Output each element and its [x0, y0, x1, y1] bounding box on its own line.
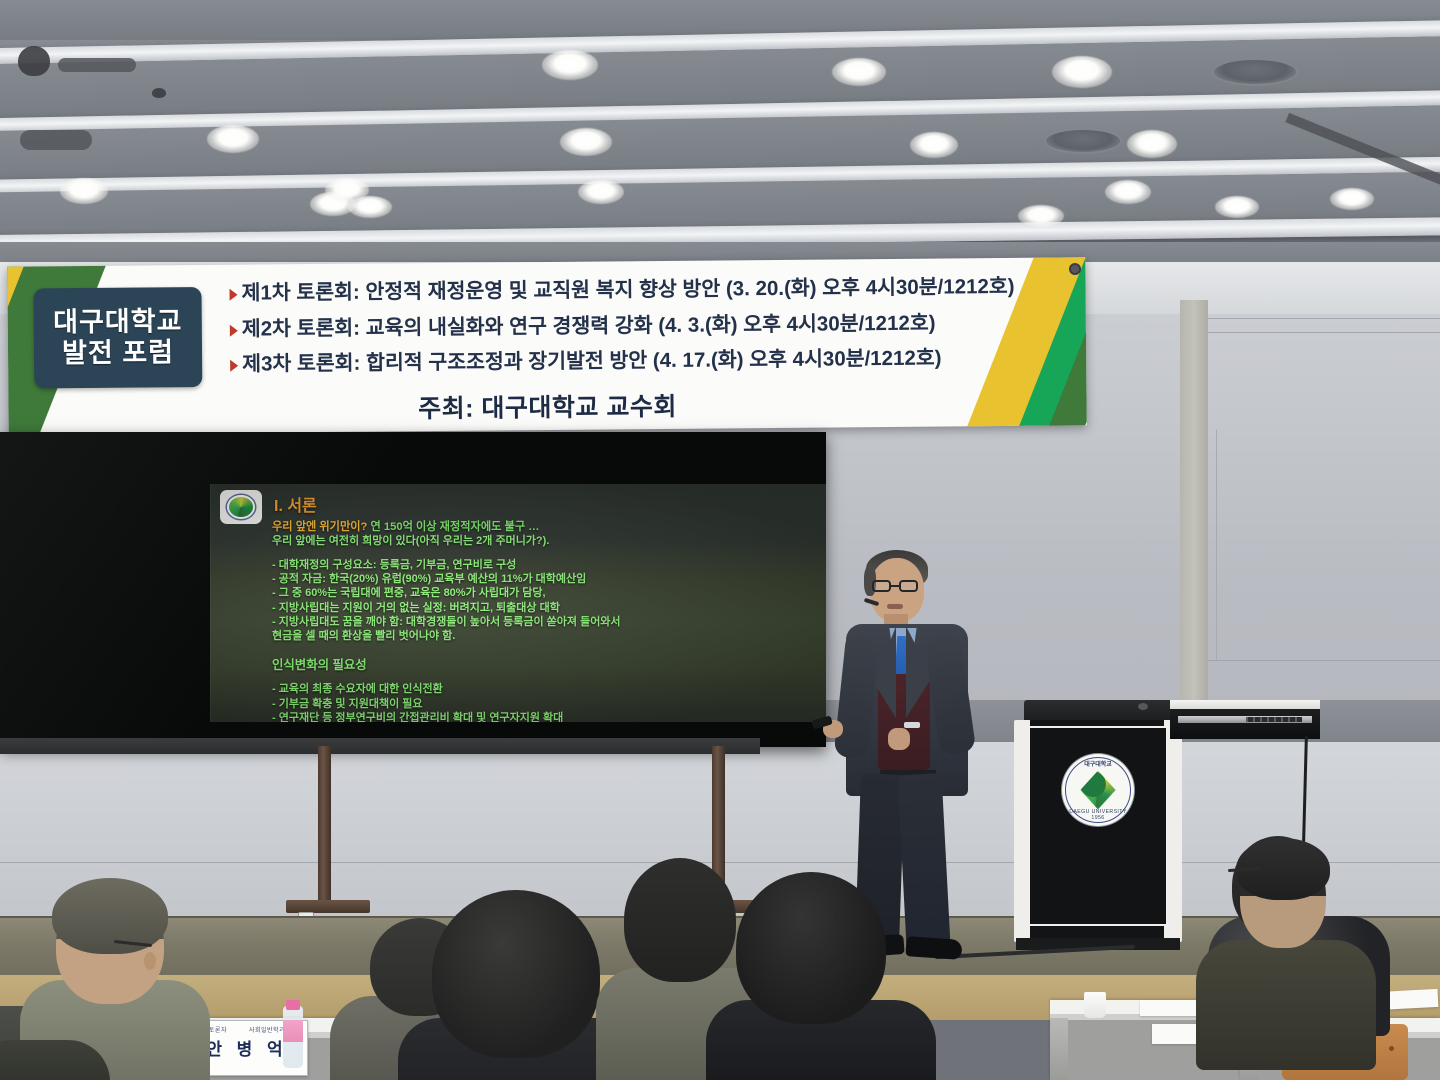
downlight	[1127, 130, 1177, 158]
banner-peg	[1069, 263, 1081, 275]
banner-session-item: 제1차 토론회: 안정적 재정운영 및 교직원 복지 향상 방안 (3. 20.…	[229, 276, 1025, 304]
screen-support-rail	[0, 738, 760, 754]
slide-bullet: - 지방사립대는 지원이 거의 없는 실정: 버려지고, 퇴출대상 대학	[272, 601, 820, 615]
audience-head	[736, 872, 886, 1024]
slide-section-bullet: - 연구재단 등 정부연구비의 간접관리비 확대 및 연구자지원 확대	[272, 711, 820, 722]
slide-headline-line2: 우리 앞에는 여전히 희망이 있다(아직 우리는 2개 주머니가?).	[272, 534, 820, 548]
slide-bullet: - 지방사립대도 꿈을 깨야 함: 대학경쟁들이 높아서 등록금이 쏟아져 들어…	[272, 615, 820, 629]
banner-host-text: 주최: 대구대학교 교수회	[8, 383, 1086, 428]
slide-headline-rest: 연 150억 이상 재정적자에도 불구 …	[367, 521, 539, 533]
screen-support-post	[318, 746, 331, 912]
banner-title-badge: 대구대학교 발전 포럼	[33, 287, 202, 388]
console-body	[1170, 709, 1320, 739]
ceiling	[0, 0, 1440, 268]
downlight	[207, 125, 259, 153]
slide-body: 우리 앞엔 위기만이? 연 150억 이상 재정적자에도 불구 … 우리 앞에는…	[272, 520, 820, 722]
downlight	[560, 128, 612, 156]
wall-seam	[1195, 332, 1440, 333]
podium-body: 대구대학교 DAEGU UNIVERSITY 1956	[1014, 720, 1182, 942]
slide-bullet: - 그 중 60%는 국립대에 편중, 교육은 80%가 사립대가 담당,	[272, 586, 820, 600]
downlight	[1330, 188, 1374, 210]
downlight	[542, 50, 598, 80]
wall-column	[1180, 300, 1208, 700]
podium-knob-icon	[1138, 703, 1148, 710]
banner-session-list: 제1차 토론회: 안정적 재정운영 및 교직원 복지 향상 방안 (3. 20.…	[229, 276, 1026, 389]
av-console[interactable]	[1170, 700, 1320, 742]
wall-seam	[1195, 318, 1440, 319]
podium-logo-en: DAEGU UNIVERSITY 1956	[1062, 809, 1134, 821]
presentation-slide: I. 서론 우리 앞엔 위기만이? 연 150억 이상 재정적자에도 불구 … …	[210, 484, 826, 722]
university-emblem-icon	[220, 490, 262, 524]
podium-logo-kr: 대구대학교	[1062, 759, 1134, 768]
downlight	[1105, 180, 1151, 204]
downlight	[910, 132, 958, 158]
nameplate-role-right: 사회일반학과	[249, 1025, 285, 1034]
bottle-cap	[286, 1000, 300, 1010]
podium-top	[1024, 700, 1174, 722]
lecture-hall-scene: 대구대학교 발전 포럼 제1차 토론회: 안정적 재정운영 및 교직원 복지 향…	[0, 0, 1440, 1080]
triangle-bullet-icon	[230, 324, 238, 336]
banner-session-text: 제1차 토론회: 안정적 재정운영 및 교직원 복지 향상 방안 (3. 20.…	[241, 276, 1014, 304]
ceiling-vent-slot	[58, 58, 136, 72]
slide-section-bullet: - 기부금 확충 및 지원대책이 필요	[272, 697, 820, 711]
audience-ear	[144, 952, 156, 970]
downlight	[60, 178, 108, 204]
forum-banner: 대구대학교 발전 포럼 제1차 토론회: 안정적 재정운영 및 교직원 복지 향…	[7, 257, 1086, 434]
podium: 대구대학교 DAEGU UNIVERSITY 1956	[1014, 700, 1182, 950]
audience-head	[432, 890, 600, 1058]
presenter-mouth	[887, 604, 903, 609]
presenter-right-leg	[898, 773, 951, 947]
presenter-right-shoe	[905, 936, 962, 960]
downlight	[1215, 196, 1259, 218]
daegu-university-logo-icon: 대구대학교 DAEGU UNIVERSITY 1956	[1062, 754, 1134, 826]
glasses-bridge	[891, 585, 899, 587]
ceiling-diffuser-icon	[1044, 128, 1122, 154]
bottle-label	[283, 1020, 303, 1042]
slide-bullet: - 대학재정의 구성요소: 등록금, 기부금, 연구비로 구성	[272, 558, 820, 572]
projection-screen: I. 서론 우리 앞엔 위기만이? 연 150억 이상 재정적자에도 불구 … …	[0, 432, 826, 747]
banner-session-item: 제2차 토론회: 교육의 내실화와 연구 경쟁력 강화 (4. 3.(화) 오후…	[230, 311, 1026, 339]
slide-bullet: - 공적 자금: 한국(20%) 유럽(90%) 교육부 예산의 11%가 대학…	[272, 572, 820, 586]
nameplate-name: 안 병 억	[206, 1035, 287, 1060]
downlight	[578, 180, 624, 204]
presenter-right-hand	[888, 728, 910, 750]
downlight	[348, 196, 392, 218]
downlight	[832, 58, 886, 86]
downlight	[1052, 56, 1112, 88]
nameplate-roles: 토론자 사회일반학과	[209, 1025, 285, 1034]
audience-hair	[52, 878, 168, 954]
ceiling-vent-slot	[20, 130, 92, 150]
ceiling-diffuser-icon	[1212, 58, 1298, 86]
audience-head	[624, 858, 736, 982]
glasses-icon	[872, 580, 891, 592]
slide-title: I. 서론	[274, 492, 317, 516]
ceiling-speaker-icon	[18, 46, 50, 76]
smoke-detector-icon	[152, 88, 166, 98]
banner-session-text: 제3차 토론회: 합리적 구조조정과 장기발전 방안 (4. 17.(화) 오후…	[242, 348, 942, 376]
slide-bullet-continuation: 현금을 셀 때의 환상을 빨리 벗어나야 함.	[272, 629, 820, 643]
console-indicator-strip	[1246, 717, 1302, 722]
wall-seam	[1195, 660, 1440, 661]
slide-headline-highlight: 우리 앞엔 위기만이?	[272, 521, 367, 533]
downlight	[1018, 205, 1064, 227]
desk-side-panel	[1050, 1018, 1068, 1080]
paper-cup	[1084, 992, 1106, 1018]
banner-session-text: 제2차 토론회: 교육의 내실화와 연구 경쟁력 강화 (4. 3.(화) 오후…	[242, 312, 936, 340]
banner-badge-line1: 대구대학교	[53, 308, 182, 338]
slide-headline: 우리 앞엔 위기만이? 연 150억 이상 재정적자에도 불구 …	[272, 520, 820, 534]
slide-section-heading: 인식변화의 필요성	[272, 655, 820, 673]
wristwatch-icon	[904, 722, 920, 728]
banner-badge-line2: 발전 포럼	[62, 338, 174, 368]
audience-member	[1196, 940, 1376, 1070]
wall-column	[1216, 430, 1217, 660]
slide-section-bullet: - 교육의 최종 수요자에 대한 인식전환	[272, 682, 820, 696]
glasses-icon	[899, 580, 918, 592]
nameplate-role-left: 토론자	[209, 1025, 227, 1034]
triangle-bullet-icon	[230, 360, 238, 372]
triangle-bullet-icon	[229, 289, 237, 301]
banner-session-item: 제3차 토론회: 합리적 구조조정과 장기발전 방안 (4. 17.(화) 오후…	[230, 347, 1026, 375]
